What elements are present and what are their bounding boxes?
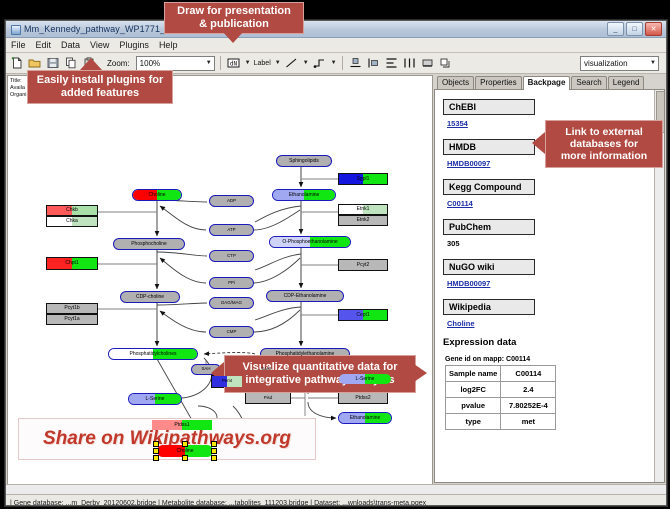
group-icon[interactable] (420, 56, 435, 71)
metabolite-node[interactable]: ATP (209, 224, 254, 236)
align-bottom-icon[interactable] (348, 56, 363, 71)
distribute-vertical-icon[interactable] (384, 56, 399, 71)
open-folder-icon[interactable] (27, 56, 42, 71)
db-header-kegg: Kegg Compound (443, 179, 535, 195)
chevron-down-icon[interactable]: ▼ (245, 60, 251, 66)
metabolite-node[interactable]: CMP (209, 326, 254, 338)
node-label: Phosphocholine (131, 242, 167, 247)
metabolite-node[interactable]: CTP (209, 250, 254, 262)
metabolite-node[interactable]: Sphingolipids (276, 155, 332, 167)
zoom-label: Zoom: (107, 59, 130, 68)
cell-key: log2FC (446, 382, 501, 398)
node-label: Choline (177, 449, 194, 454)
chevron-down-icon[interactable]: ▼ (331, 60, 337, 66)
toolbar-divider (220, 56, 221, 70)
toolbar-divider (342, 56, 343, 70)
resize-handle[interactable] (153, 455, 159, 461)
node-label: Ethanolamine (289, 193, 320, 198)
close-button[interactable]: ✕ (645, 22, 662, 36)
connector-icon[interactable] (312, 56, 327, 71)
plugins-callout-text: Easily install plugins for added feature… (37, 74, 164, 100)
node-label: CDP-choline (136, 295, 164, 300)
table-row: type met (446, 414, 556, 430)
node-label: O-Phosphoethanolamine (282, 240, 337, 245)
zoom-value: 100% (140, 59, 160, 68)
chevron-down-icon: ▼ (206, 60, 212, 66)
node-label: Cept1 (356, 313, 369, 318)
cell-key: pvalue (446, 398, 501, 414)
menu-item-help[interactable]: Help (158, 40, 179, 50)
node-label: Chka (66, 219, 78, 224)
metabolite-node[interactable]: CDP-Ethanolamine (266, 290, 344, 302)
tab-properties[interactable]: Properties (475, 76, 521, 89)
resize-handle[interactable] (211, 441, 217, 447)
tab-objects[interactable]: Objects (437, 76, 474, 89)
node-label: Ethanolamine (350, 416, 381, 421)
db-value-pubchem: 305 (447, 239, 664, 248)
resize-handle[interactable] (182, 441, 188, 447)
app-icon (10, 24, 20, 34)
table-row: Sample name C00114 (446, 366, 556, 382)
chevron-down-icon[interactable]: ▼ (275, 60, 281, 66)
menu-item-plugins[interactable]: Plugins (118, 40, 150, 50)
expression-table: Sample name C00114 log2FC 2.4 pvalue 7.8… (445, 365, 556, 430)
gene-node[interactable]: Chpt1 (46, 257, 98, 270)
node-label: ATP (227, 228, 235, 232)
svg-text:dN: dN (230, 60, 238, 67)
canvas-horizontal-scrollbar[interactable] (6, 484, 666, 494)
datanode-icon[interactable]: dN (226, 56, 241, 71)
link-callout: Link to external databases for more info… (545, 120, 663, 168)
chevron-down-icon: ▼ (650, 60, 656, 66)
plugins-callout: Easily install plugins for added feature… (27, 70, 173, 104)
link-callout-arrow-icon (532, 132, 545, 154)
gene-node[interactable]: Pcyt2 (338, 259, 388, 271)
node-label: Chkb (66, 208, 78, 213)
node-label: Chpt1 (65, 261, 78, 266)
gene-node[interactable]: Cept1 (338, 309, 388, 321)
node-label: PPi (228, 281, 235, 285)
metabolite-node[interactable]: PPi (209, 277, 254, 289)
menu-item-data[interactable]: Data (60, 40, 81, 50)
node-label: Choline (149, 193, 166, 198)
tab-legend[interactable]: Legend (608, 76, 645, 89)
node-label: CMP (227, 330, 237, 334)
node-label: ADP (227, 199, 236, 203)
draw-callout-text: Draw for presentation & publication (177, 5, 291, 31)
metabolite-node[interactable]: Ethanolamine (338, 412, 392, 424)
metabolite-node[interactable]: DAG/MAG (209, 297, 254, 309)
node-label: Pcyt2 (357, 263, 370, 268)
menu-item-file[interactable]: File (10, 40, 27, 50)
resize-handle[interactable] (153, 448, 159, 454)
node-label: L-Serine (356, 377, 375, 382)
cell-key: Sample name (446, 366, 501, 382)
new-file-icon[interactable] (9, 56, 24, 71)
db-header-pubchem: PubChem (443, 219, 535, 235)
gene-node[interactable]: Pcyt1a (46, 314, 98, 325)
maximize-button[interactable]: □ (626, 22, 643, 36)
plugins-callout-arrow-icon (80, 58, 102, 70)
cell-value: C00114 (501, 366, 556, 382)
gene-node[interactable]: Pcyt1b (46, 303, 98, 314)
label-button[interactable]: Label (254, 60, 271, 67)
save-icon[interactable] (45, 56, 60, 71)
node-label: Pemt (222, 379, 232, 383)
node-label: CTP (227, 254, 236, 258)
visualization-combobox[interactable]: visualization ▼ (580, 56, 659, 71)
resize-handle[interactable] (211, 448, 217, 454)
gene-node[interactable]: Etnk1 (338, 204, 388, 215)
line-icon[interactable] (284, 56, 299, 71)
gene-node[interactable]: Ptdss2 (338, 392, 388, 404)
minimize-button[interactable]: _ (607, 22, 624, 36)
node-label: Sgpl1 (357, 177, 370, 182)
cell-value: 2.4 (501, 382, 556, 398)
db-link-wikipedia[interactable]: Choline (447, 319, 664, 328)
gene-node[interactable]: Sgpl1 (338, 173, 388, 185)
resize-handle[interactable] (182, 455, 188, 461)
metabolite-node[interactable]: Choline (132, 189, 182, 201)
node-label: DAG/MAG (221, 301, 242, 305)
db-header-nugo: NuGO wiki (443, 259, 535, 275)
screenshot-root: Mm_Kennedy_pathway_WP1771_45176.gpml _ □… (0, 0, 670, 509)
node-label: SAH (201, 367, 210, 371)
table-row: pvalue 7.80252E-4 (446, 398, 556, 414)
copy-icon[interactable] (63, 56, 78, 71)
db-header-hmdb: HMDB (443, 139, 535, 155)
metabolite-node[interactable]: Ethanolamine (272, 189, 336, 201)
metabolite-node[interactable]: ADP (209, 195, 254, 207)
node-label: Sphingolipids (289, 159, 319, 164)
gene-node[interactable]: Etnk2 (338, 215, 388, 226)
node-label: Ptdss1 (174, 423, 189, 428)
tab-backpage[interactable]: Backpage (523, 76, 571, 90)
cell-key: type (446, 414, 501, 430)
node-label: Phosphatidylethanolamine (276, 352, 335, 357)
window-titlebar: Mm_Kennedy_pathway_WP1771_45176.gpml _ □… (6, 21, 666, 38)
node-label: Phosphatidylcholines (130, 352, 177, 357)
node-label: L-Serine (146, 397, 165, 402)
cell-value: met (501, 414, 556, 430)
metabolite-node[interactable]: L-Serine (128, 393, 182, 405)
gene-node[interactable]: Chkb (46, 205, 98, 216)
draw-callout-arrow-icon (222, 31, 244, 43)
node-label: CDP-Ethanolamine (284, 294, 327, 299)
visualize-callout-right-arrow-icon (414, 364, 427, 382)
menu-bar: File Edit Data View Plugins Help (6, 38, 666, 53)
node-label: SAM (261, 367, 271, 371)
cell-value: 7.80252E-4 (501, 398, 556, 414)
align-left-icon[interactable] (366, 56, 381, 71)
draw-callout: Draw for presentation & publication (164, 2, 304, 34)
gene-node[interactable]: Ptdss1 (151, 419, 213, 431)
node-label: Pcyt1a (64, 317, 79, 322)
expression-data-heading: Expression data (443, 337, 664, 348)
metabolite-node[interactable]: Phosphatidylcholines (108, 348, 198, 360)
gene-node[interactable]: Chka (46, 216, 98, 227)
tab-search[interactable]: Search (571, 76, 606, 89)
status-text: | Gene database: ...m_Derby_20120602.bri… (10, 500, 426, 507)
visualization-value: visualization (584, 59, 628, 68)
order-icon[interactable] (438, 56, 453, 71)
node-label: Pisd (264, 396, 273, 400)
db-link-nugo[interactable]: HMDB00097 (447, 279, 664, 288)
db-header-wikipedia: Wikipedia (443, 299, 535, 315)
menu-item-view[interactable]: View (89, 40, 110, 50)
panel-tabstrip: Objects Properties Backpage Search Legen… (434, 75, 665, 90)
table-row: log2FC 2.4 (446, 382, 556, 398)
resize-handle[interactable] (211, 455, 217, 461)
metabolite-node[interactable]: CDP-choline (120, 291, 180, 303)
gene-node[interactable]: Pisd (245, 392, 291, 404)
gene-id-line: Gene id on mapp: C00114 (445, 356, 664, 363)
resize-handle[interactable] (153, 441, 159, 447)
metabolite-node[interactable]: Phosphocholine (113, 238, 185, 250)
distribute-horizontal-icon[interactable] (402, 56, 417, 71)
db-header-chebi: ChEBI (443, 99, 535, 115)
node-label: Ptdss2 (355, 396, 370, 401)
link-callout-text: Link to external databases for more info… (561, 126, 647, 162)
menu-item-edit[interactable]: Edit (35, 40, 53, 50)
zoom-combobox[interactable]: 100% ▼ (136, 56, 215, 71)
node-label: Etnk1 (357, 207, 370, 212)
status-bar: | Gene database: ...m_Derby_20120602.bri… (6, 494, 666, 506)
gene-node[interactable]: Pemt (211, 375, 243, 388)
chevron-down-icon[interactable]: ▼ (303, 60, 309, 66)
db-link-kegg[interactable]: C00114 (447, 199, 664, 208)
node-label: Pcyt1b (64, 306, 79, 311)
metabolite-node[interactable]: L-Serine (338, 373, 392, 385)
metabolite-node[interactable]: O-Phosphoethanolamine (269, 236, 351, 248)
node-label: Etnk2 (357, 218, 370, 223)
